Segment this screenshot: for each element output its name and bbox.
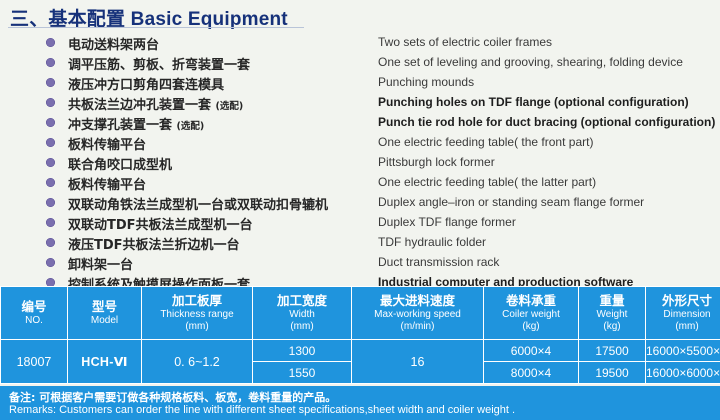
column-header: 卷料承重Coiler weight(kg) xyxy=(484,287,579,340)
column-header-cn: 加工宽度 xyxy=(253,293,351,308)
specification-table: 编号NO.型号Model加工板厚Thickness range(mm)加工宽度W… xyxy=(0,286,720,384)
column-header-en: NO. xyxy=(1,315,67,327)
equipment-list: 电动送料架两台Two sets of electric coiler frame… xyxy=(0,32,720,292)
bullet-icon xyxy=(46,158,55,167)
column-header-cn: 重量 xyxy=(579,293,645,308)
bullet-icon xyxy=(46,178,55,187)
column-header: 加工宽度Width(mm) xyxy=(253,287,352,340)
equipment-row: 调平压筋、剪板、折弯装置一套One set of leveling and gr… xyxy=(0,52,720,72)
cell-coiler-weight: 8000×4 xyxy=(484,362,579,384)
table-body: 18007HCH-Ⅵ0. 6~1.21300166000×41750016000… xyxy=(1,340,720,384)
equipment-label-cn: 联合角咬口成型机 xyxy=(68,154,172,173)
cell-speed: 16 xyxy=(352,340,484,384)
column-header-cn: 型号 xyxy=(68,299,141,314)
bullet-icon xyxy=(46,98,55,107)
equipment-label-en: One electric feeding table( the front pa… xyxy=(378,135,593,149)
column-header-en: Width xyxy=(253,309,351,321)
column-header-cn: 最大进料速度 xyxy=(352,293,483,308)
bullet-icon xyxy=(46,38,55,47)
equipment-label-cn: 液压冲方口剪角四套连模具 xyxy=(68,74,224,93)
bullet-icon xyxy=(46,118,55,127)
cell-weight: 17500 xyxy=(579,340,646,362)
equipment-label-en: Punching holes on TDF flange (optional c… xyxy=(378,95,689,109)
equipment-label-cn: 电动送料架两台 xyxy=(68,34,159,53)
equipment-label-en: Punch tie rod hole for duct bracing (opt… xyxy=(378,115,715,129)
column-header-en: Weight xyxy=(579,309,645,321)
equipment-row: 液压TDF共板法兰折边机一台TDF hydraulic folder xyxy=(0,232,720,252)
equipment-label-en: TDF hydraulic folder xyxy=(378,235,486,249)
equipment-label-en: Punching mounds xyxy=(378,75,474,89)
cell-dimension: 16000×6000×1300 xyxy=(646,362,720,384)
column-header-unit: (kg) xyxy=(484,321,578,333)
bullet-icon xyxy=(46,58,55,67)
remarks-cn: 备注: 可根据客户需要订做各种规格板料、板宽，卷料重量的产品。 xyxy=(9,389,336,405)
equipment-label-cn: 调平压筋、剪板、折弯装置一套 xyxy=(68,54,250,73)
equipment-row: 冲支撑孔装置一套 (选配)Punch tie rod hole for duct… xyxy=(0,112,720,132)
column-header-cn: 加工板厚 xyxy=(142,293,252,308)
equipment-row: 板料传输平台One electric feeding table( the fr… xyxy=(0,132,720,152)
equipment-row: 联合角咬口成型机Pittsburgh lock former xyxy=(0,152,720,172)
column-header: 加工板厚Thickness range(mm) xyxy=(142,287,253,340)
column-header-cn: 卷料承重 xyxy=(484,293,578,308)
equipment-label-en: Two sets of electric coiler frames xyxy=(378,35,552,49)
optional-config-note: (选配) xyxy=(177,121,205,132)
equipment-row: 板料传输平台One electric feeding table( the la… xyxy=(0,172,720,192)
column-header: 型号Model xyxy=(68,287,142,340)
equipment-label-en: Duplex TDF flange former xyxy=(378,215,516,229)
cell-weight: 19500 xyxy=(579,362,646,384)
optional-config-note: (选配) xyxy=(216,101,244,112)
equipment-label-cn: 板料传输平台 xyxy=(68,174,146,193)
equipment-label-cn: 双联动TDF共板法兰成型机一台 xyxy=(68,214,253,233)
cell-model: HCH-Ⅵ xyxy=(68,340,142,384)
equipment-row: 共板法兰边冲孔装置一套 (选配)Punching holes on TDF fl… xyxy=(0,92,720,112)
cell-dimension: 16000×5500×1300 xyxy=(646,340,720,362)
column-header: 重量Weight(kg) xyxy=(579,287,646,340)
equipment-row: 液压冲方口剪角四套连模具Punching mounds xyxy=(0,72,720,92)
equipment-label-cn: 液压TDF共板法兰折边机一台 xyxy=(68,234,240,253)
column-header: 外形尺寸Dimension(mm) xyxy=(646,287,720,340)
equipment-label-cn: 板料传输平台 xyxy=(68,134,146,153)
equipment-label-en: Duplex angle–iron or standing seam flang… xyxy=(378,195,644,209)
bullet-icon xyxy=(46,138,55,147)
column-header-unit: (mm) xyxy=(253,321,351,333)
column-header-cn: 外形尺寸 xyxy=(646,293,720,308)
equipment-row: 双联动角铁法兰成型机一台或双联动扣骨辘机Duplex angle–iron or… xyxy=(0,192,720,212)
column-header-unit: (m/min) xyxy=(352,321,483,333)
table-row: 18007HCH-Ⅵ0. 6~1.21300166000×41750016000… xyxy=(1,340,720,362)
column-header-cn: 编号 xyxy=(1,299,67,314)
equipment-label-en: One set of leveling and grooving, sheari… xyxy=(378,55,683,69)
cell-width: 1300 xyxy=(253,340,352,362)
column-header-en: Coiler weight xyxy=(484,309,578,321)
equipment-label-en: One electric feeding table( the latter p… xyxy=(378,175,596,189)
column-header-unit: (mm) xyxy=(646,321,720,333)
bullet-icon xyxy=(46,198,55,207)
bullet-icon xyxy=(46,258,55,267)
equipment-row: 电动送料架两台Two sets of electric coiler frame… xyxy=(0,32,720,52)
equipment-row: 卸料架一台Duct transmission rack xyxy=(0,252,720,272)
column-header-en: Dimension xyxy=(646,309,720,321)
column-header-unit: (kg) xyxy=(579,321,645,333)
column-header-en: Thickness range xyxy=(142,309,252,321)
bullet-icon xyxy=(46,238,55,247)
cell-thickness: 0. 6~1.2 xyxy=(142,340,253,384)
remarks-bar: 备注: 可根据客户需要订做各种规格板料、板宽，卷料重量的产品。 Remarks:… xyxy=(0,386,720,420)
equipment-row: 双联动TDF共板法兰成型机一台Duplex TDF flange former xyxy=(0,212,720,232)
remarks-en: Remarks: Customers can order the line wi… xyxy=(9,404,515,416)
equipment-label-cn: 双联动角铁法兰成型机一台或双联动扣骨辘机 xyxy=(68,194,328,213)
equipment-label-cn: 共板法兰边冲孔装置一套 (选配) xyxy=(68,94,243,113)
column-header: 最大进料速度Max-working speed(m/min) xyxy=(352,287,484,340)
cell-coiler-weight: 6000×4 xyxy=(484,340,579,362)
cell-no: 18007 xyxy=(1,340,68,384)
bullet-icon xyxy=(46,218,55,227)
equipment-label-cn: 卸料架一台 xyxy=(68,254,133,273)
equipment-label-en: Pittsburgh lock former xyxy=(378,155,495,169)
page-header: 三、基本配置 Basic Equipment xyxy=(0,0,720,30)
column-header-en: Model xyxy=(68,315,141,327)
equipment-label-cn: 冲支撑孔装置一套 (选配) xyxy=(68,114,204,133)
column-header-unit: (mm) xyxy=(142,321,252,333)
equipment-label-en: Duct transmission rack xyxy=(378,255,499,269)
title-divider xyxy=(8,27,304,28)
column-header: 编号NO. xyxy=(1,287,68,340)
table-header-row: 编号NO.型号Model加工板厚Thickness range(mm)加工宽度W… xyxy=(1,287,720,340)
column-header-en: Max-working speed xyxy=(352,309,483,321)
cell-width: 1550 xyxy=(253,362,352,384)
bullet-icon xyxy=(46,78,55,87)
